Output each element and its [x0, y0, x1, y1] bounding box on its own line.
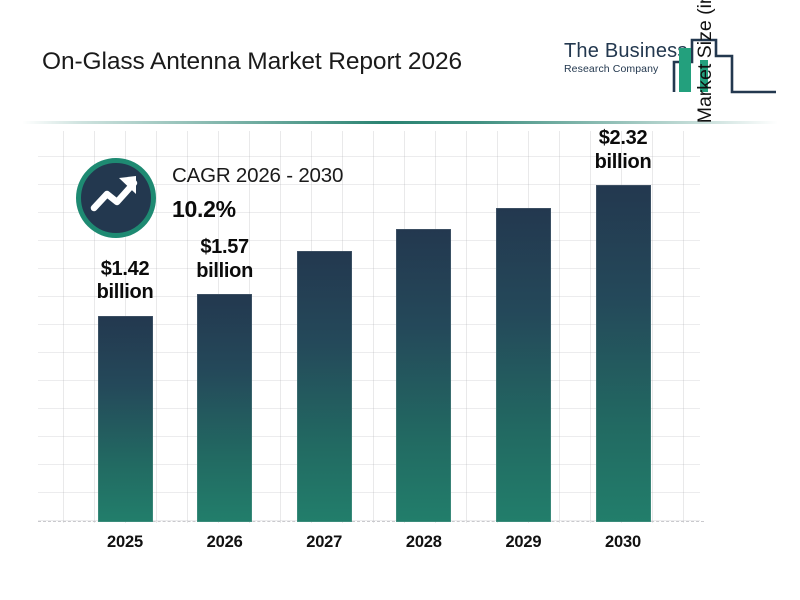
cagr-text-block: CAGR 2026 - 2030 10.2% [172, 164, 406, 223]
bar-2028 [396, 229, 451, 522]
x-tick-2029: 2029 [473, 533, 573, 552]
cagr-value-label: 10.2% [172, 196, 406, 223]
x-tick-2026: 2026 [175, 533, 275, 552]
bar-2029 [496, 208, 551, 522]
value-unit: billion [155, 260, 295, 284]
bar-2026 [197, 294, 252, 522]
value-label-2026: $1.57billion [155, 236, 295, 283]
x-tick-2028: 2028 [374, 533, 474, 552]
x-tick-2027: 2027 [274, 533, 374, 552]
value-unit: billion [553, 151, 693, 175]
trending-up-icon [90, 172, 142, 220]
x-tick-2025: 2025 [75, 533, 175, 552]
cagr-period-label: CAGR 2026 - 2030 [172, 164, 406, 188]
cagr-badge: CAGR 2026 - 2030 10.2% [76, 156, 406, 242]
value-amount: $2.32 [553, 127, 693, 151]
bar-2025 [98, 316, 153, 522]
value-unit: billion [55, 281, 195, 305]
value-label-2030: $2.32billion [553, 127, 693, 174]
chart-page: On-Glass Antenna Market Report 2026 The … [0, 0, 800, 600]
x-tick-2030: 2030 [573, 533, 673, 552]
y-axis-label: Market Size (in USD Billion) [688, 0, 722, 199]
bar-2027 [297, 251, 352, 522]
bar-2030 [596, 185, 651, 522]
value-amount: $1.57 [155, 236, 295, 260]
